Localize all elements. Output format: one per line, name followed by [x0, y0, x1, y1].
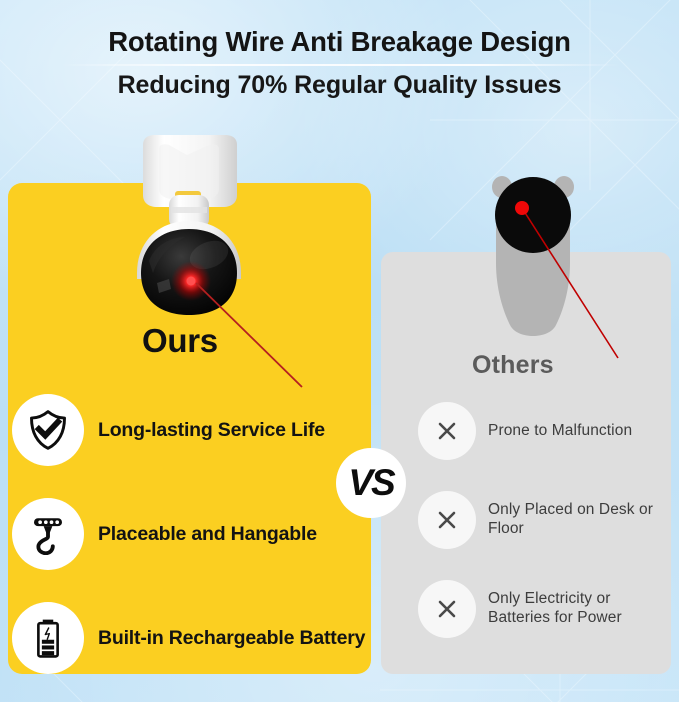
drawback-label: Prone to Malfunction [488, 422, 632, 441]
headline-title: Rotating Wire Anti Breakage Design [0, 26, 679, 58]
headline-subtitle: Reducing 70% Regular Quality Issues [0, 71, 679, 100]
feature-row: Long-lasting Service Life [12, 388, 367, 472]
others-drawback-list: Prone to Malfunction Only Placed on Desk… [418, 398, 673, 665]
shield-check-icon [12, 394, 84, 466]
rechargeable-battery-icon [12, 602, 84, 674]
feature-label: Placeable and Hangable [98, 523, 317, 546]
drawback-row: Prone to Malfunction [418, 398, 673, 464]
drawback-label: Only Electricity or Batteries for Power [488, 590, 673, 627]
crane-hook-icon [12, 498, 84, 570]
ours-product-image [113, 133, 268, 318]
ours-feature-list: Long-lasting Service Life Placeable and … [12, 388, 367, 700]
versus-label: VS [348, 464, 393, 501]
headline-block: Rotating Wire Anti Breakage Design Reduc… [0, 26, 679, 100]
others-title: Others [472, 351, 554, 380]
drawback-row: Only Placed on Desk or Floor [418, 487, 673, 553]
feature-label: Long-lasting Service Life [98, 419, 325, 442]
others-product-image [478, 163, 588, 338]
ours-title: Ours [142, 322, 218, 360]
infographic-root: Rotating Wire Anti Breakage Design Reduc… [0, 0, 679, 702]
headline-divider [60, 64, 620, 66]
drawback-row: Only Electricity or Batteries for Power [418, 576, 673, 642]
feature-label: Built-in Rechargeable Battery [98, 627, 365, 650]
feature-row: Built-in Rechargeable Battery [12, 596, 367, 680]
cross-icon [418, 580, 476, 638]
feature-row: Placeable and Hangable [12, 492, 367, 576]
versus-badge: VS [336, 448, 406, 518]
cross-icon [418, 402, 476, 460]
cross-icon [418, 491, 476, 549]
drawback-label: Only Placed on Desk or Floor [488, 501, 673, 538]
